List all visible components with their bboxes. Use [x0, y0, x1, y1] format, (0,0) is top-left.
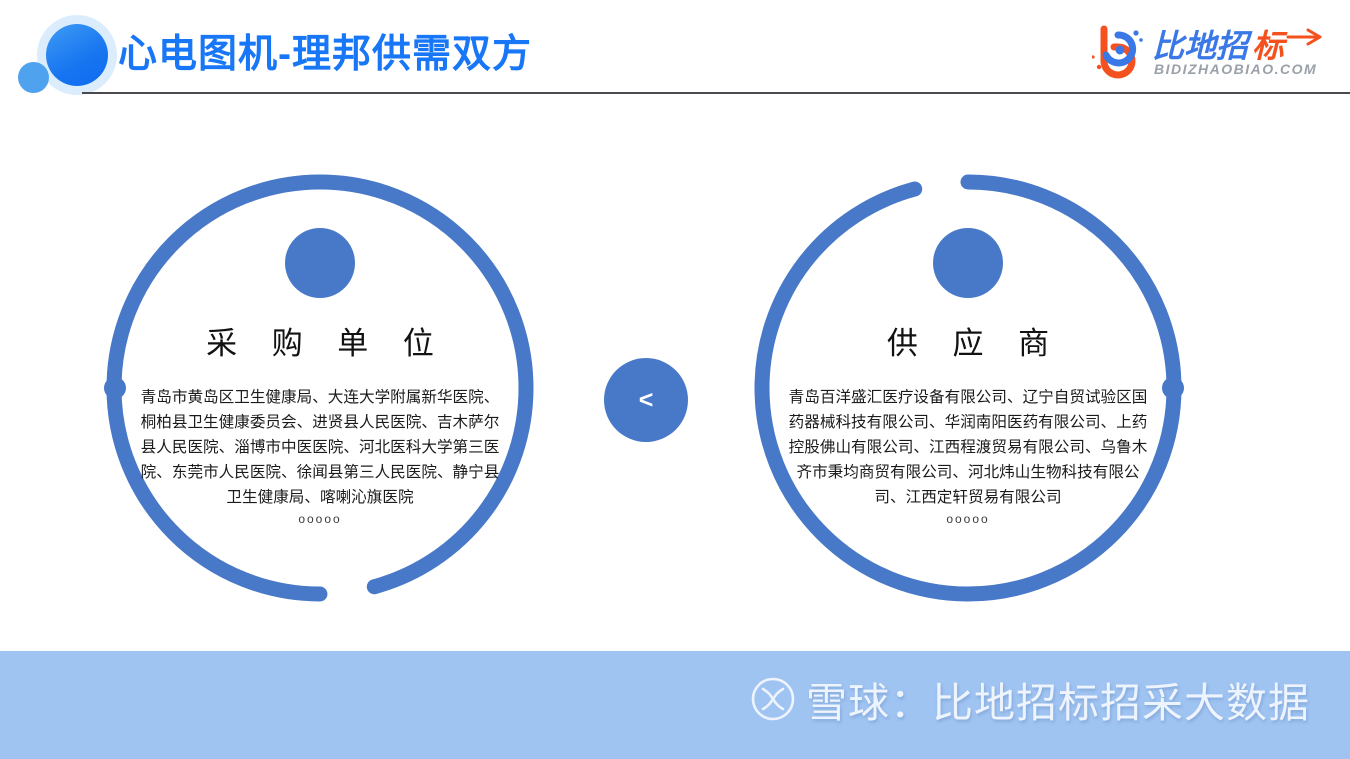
watermark-text: 雪球：比地招标招采大数据: [806, 669, 1310, 729]
buyer-list: 青岛市黄岛区卫生健康局、大连大学附属新华医院、桐柏县卫生健康委员会、进贤县人民医…: [139, 385, 501, 510]
brand-logo-mark: 比地招 标 BIDIZHAOBIAO.COM: [1092, 21, 1332, 83]
page-title: 心电图机-理邦供需双方: [118, 30, 532, 80]
svg-text:标: 标: [1252, 28, 1288, 64]
slide-canvas: 心电图机-理邦供需双方 比地招 标 BIDIZHAOBIAO.COM: [0, 0, 1350, 759]
xueqiu-logo-icon: [750, 676, 796, 722]
watermark: 雪球：比地招标招采大数据: [750, 669, 1310, 729]
decor-circle-large: [46, 24, 108, 86]
supplier-card: 供 应 商 青岛百洋盛汇医疗设备有限公司、辽宁自贸试验区国药器械科技有限公司、华…: [730, 164, 1206, 612]
brand-domain-text: BIDIZHAOBIAO.COM: [1154, 61, 1317, 77]
connector-node: <: [604, 358, 688, 442]
bottom-banner: 雪球：比地招标招采大数据: [0, 651, 1350, 759]
buyer-more-indicator: ooooo: [298, 512, 341, 526]
supplier-badge: [933, 228, 1003, 298]
buyer-card: 采 购 单 位 青岛市黄岛区卫生健康局、大连大学附属新华医院、桐柏县卫生健康委员…: [82, 164, 558, 612]
supplier-title: 供 应 商: [874, 318, 1062, 363]
brand-name-text: 比地招: [1152, 28, 1253, 64]
buyer-title: 采 购 单 位: [193, 318, 447, 363]
brand-logo: 比地招 标 BIDIZHAOBIAO.COM: [1092, 21, 1332, 83]
decor-circle-small: [18, 62, 49, 93]
chevron-left-icon: <: [639, 388, 654, 413]
header-divider: [82, 92, 1350, 94]
supplier-more-indicator: ooooo: [946, 512, 989, 526]
supplier-list: 青岛百洋盛汇医疗设备有限公司、辽宁自贸试验区国药器械科技有限公司、华润南阳医药有…: [787, 385, 1149, 510]
dna-icon: [730, 164, 770, 204]
buyer-badge: [285, 228, 355, 298]
stethoscope-icon: [82, 164, 122, 204]
